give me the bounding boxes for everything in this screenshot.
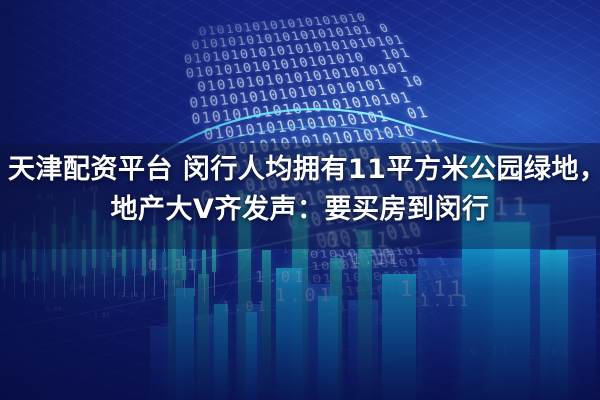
- page-title: 天津配资平台 闵行人均拥有11平方米公园绿地， 地产大V齐发声：要买房到闵行: [0, 150, 600, 230]
- headline-line-2: 地产大V齐发声：要买房到闵行: [8, 190, 592, 230]
- headline-line-1: 天津配资平台 闵行人均拥有11平方米公园绿地，: [8, 150, 592, 190]
- news-banner: 0101010101010101010 01010101010101010101…: [0, 0, 600, 400]
